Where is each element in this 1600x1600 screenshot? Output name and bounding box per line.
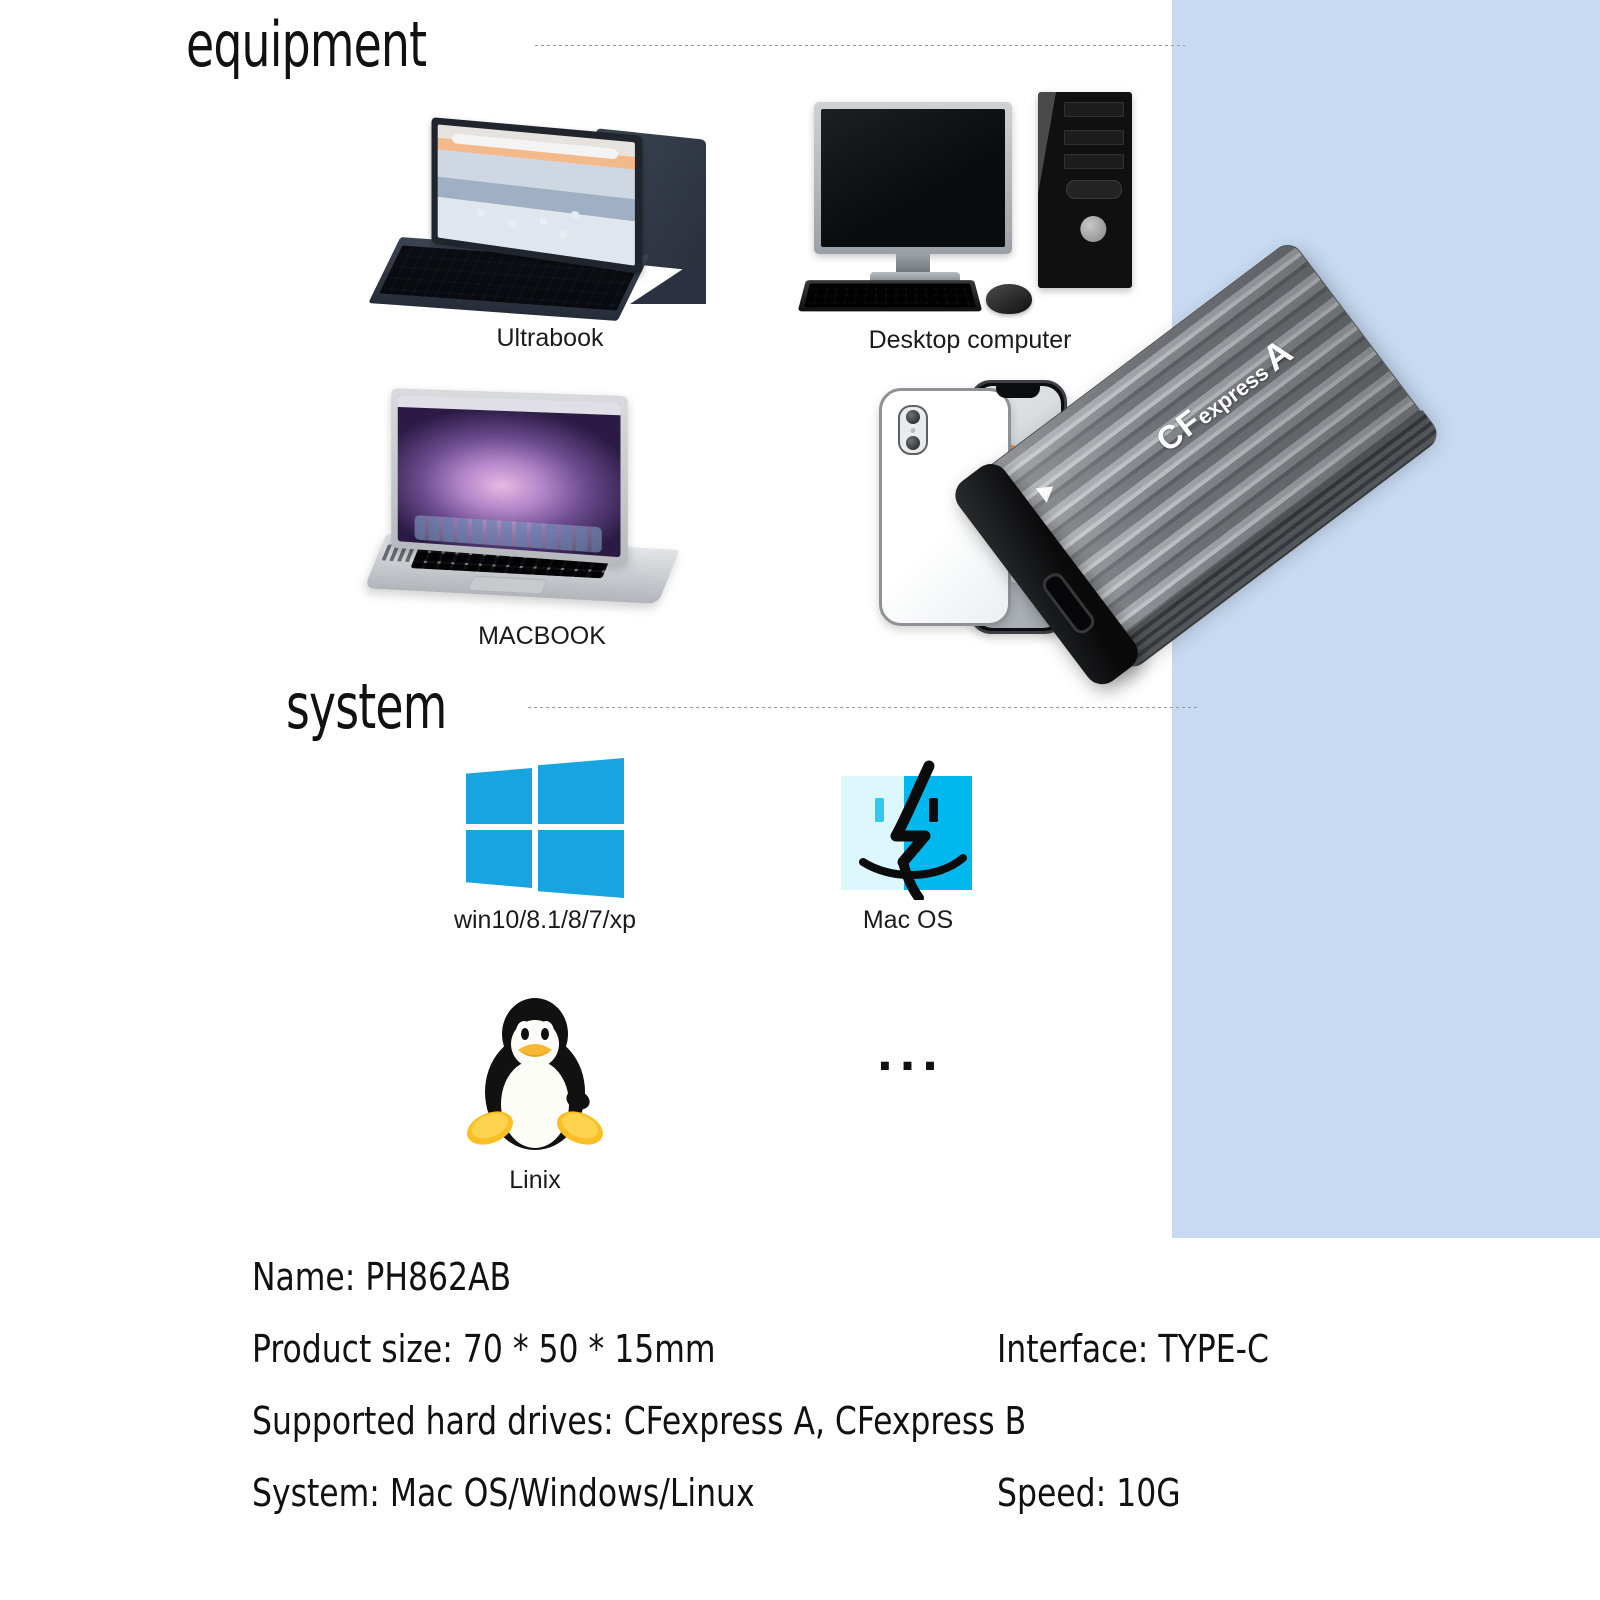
equipment-heading-text: equipment: [186, 14, 426, 76]
smartphone-camera: [898, 405, 928, 455]
windows-icon: [460, 752, 630, 900]
linux-illustration: [460, 988, 610, 1160]
linux-label: Linix: [440, 1166, 630, 1195]
spec-row: Supported hard drives: CFexpress A, CFex…: [252, 1402, 1432, 1474]
pc-monitor: [814, 102, 1012, 254]
monitor-neck: [896, 254, 930, 274]
os-linux: Linix: [440, 988, 630, 1195]
macbook-label: MACBOOK: [356, 622, 728, 651]
macos-menubar: [398, 395, 621, 415]
pc-tower: [1038, 92, 1132, 288]
device-macbook: MACBOOK: [356, 392, 728, 651]
system-heading-text: system: [286, 676, 446, 738]
os-windows: win10/8.1/8/7/xp: [430, 752, 660, 935]
desktop-illustration: [800, 88, 1140, 320]
pc-keyboard: [798, 280, 983, 311]
macos-dock: [415, 515, 602, 553]
smartphone-notch: [996, 383, 1040, 398]
equipment-heading-rule: [535, 45, 1185, 46]
tablet-search-bar: [452, 134, 618, 159]
macbook-lid: [391, 388, 628, 565]
spec-product-size: Product size: 70 * 50 * 15mm: [252, 1330, 716, 1368]
spec-name: Name: PH862AB: [252, 1258, 511, 1296]
ellipsis-label: ...: [866, 1040, 956, 1062]
product-specifications: Name: PH862AB Product size: 70 * 50 * 15…: [252, 1258, 1432, 1546]
section-heading-equipment: equipment: [186, 14, 1185, 76]
windows-illustration: [460, 752, 630, 900]
macos-illustration: [833, 758, 983, 900]
macos-label: Mac OS: [808, 906, 1008, 935]
spec-row: Product size: 70 * 50 * 15mm Interface: …: [252, 1330, 1432, 1402]
product-enclosure: CFexpressA: [1040, 330, 1600, 910]
pc-mouse: [986, 284, 1032, 314]
spec-row: System: Mac OS/Windows/Linux Speed: 10G: [252, 1474, 1432, 1546]
device-desktop-computer: Desktop computer: [790, 88, 1150, 355]
hp-logo: [1080, 216, 1106, 242]
spec-interface: Interface: TYPE-C: [997, 1330, 1269, 1368]
macbook-screen: [398, 395, 621, 557]
macbook-trackpad: [467, 576, 547, 595]
optical-drive-slot: [1066, 180, 1122, 199]
windows-label: win10/8.1/8/7/xp: [430, 906, 660, 935]
finder-face-icon: [833, 758, 983, 900]
spec-supported-drives: Supported hard drives: CFexpress A, CFex…: [252, 1402, 1026, 1440]
os-more-indicator: ...: [866, 1040, 956, 1062]
infographic-canvas: equipment Ultrabook: [0, 0, 1600, 1600]
tablet-wallpaper: [438, 124, 635, 265]
spec-system: System: Mac OS/Windows/Linux: [252, 1474, 755, 1512]
ultrabook-illustration: [380, 118, 720, 318]
spec-speed: Speed: 10G: [997, 1474, 1181, 1512]
device-ultrabook: Ultrabook: [360, 118, 740, 353]
os-macos: Mac OS: [808, 758, 1008, 935]
spec-row: Name: PH862AB: [252, 1258, 1432, 1330]
ultrabook-label: Ultrabook: [360, 324, 740, 353]
macbook-illustration: [372, 392, 712, 616]
tux-penguin-icon: [460, 988, 610, 1160]
